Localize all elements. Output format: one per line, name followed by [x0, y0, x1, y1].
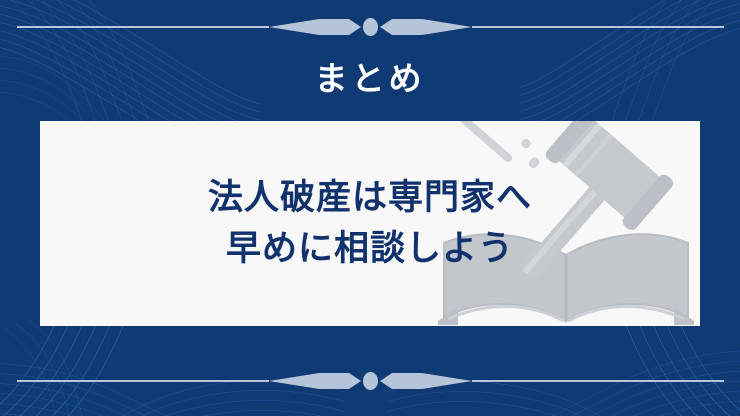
divider-center-dot-icon — [363, 18, 378, 36]
divider-top — [0, 14, 740, 40]
divider-line-right — [472, 26, 724, 28]
summary-slide: まとめ — [0, 0, 740, 416]
divider-bottom — [0, 368, 740, 394]
divider-center-dot-bottom-icon — [363, 372, 378, 390]
divider-arrow-right-bottom-icon — [380, 371, 472, 391]
divider-arrow-left-icon — [269, 17, 361, 37]
divider-line-left — [17, 26, 269, 28]
divider-line-right-bottom — [472, 380, 724, 382]
card-line-1: 法人破産は専門家へ — [208, 176, 532, 221]
card-line-2: 早めに相談しよう — [226, 227, 514, 272]
summary-card: 法人破産は専門家へ 早めに相談しよう — [40, 121, 700, 326]
divider-line-left-bottom — [17, 380, 269, 382]
page-title: まとめ — [0, 62, 740, 95]
divider-arrow-right-icon — [380, 17, 472, 37]
card-text-block: 法人破産は専門家へ 早めに相談しよう — [40, 121, 700, 326]
divider-arrow-left-bottom-icon — [269, 371, 361, 391]
